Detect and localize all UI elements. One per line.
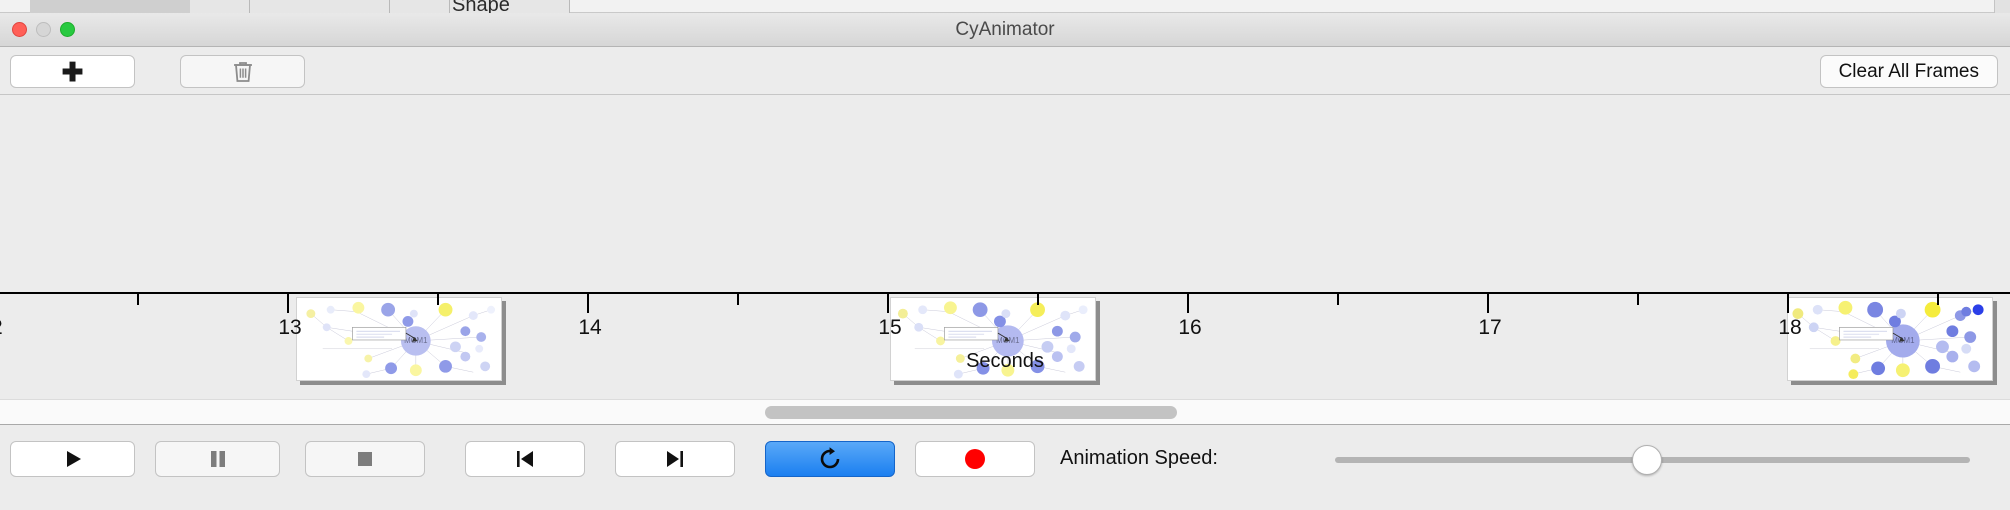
ruler-baseline — [0, 292, 2010, 294]
stop-button[interactable] — [305, 441, 425, 477]
ruler-tick-minor — [1637, 294, 1639, 305]
animation-speed-slider[interactable] — [1335, 457, 1970, 463]
ruler-tick-major — [887, 294, 889, 313]
skip-to-start-icon — [513, 448, 537, 470]
ruler-tick-major — [1187, 294, 1189, 313]
timeline-ruler[interactable]: 12 13 14 15 16 17 18 Seconds — [0, 292, 2010, 372]
slider-thumb[interactable] — [1632, 445, 1662, 475]
skip-to-end-button[interactable] — [615, 441, 735, 477]
skip-to-start-button[interactable] — [465, 441, 585, 477]
background-window-strip: Shape — [0, 0, 2010, 13]
stop-icon — [355, 449, 375, 469]
loop-button[interactable] — [765, 441, 895, 477]
ruler-tick-major — [287, 294, 289, 313]
ruler-tick-minor — [137, 294, 139, 305]
animation-speed-label: Animation Speed: — [1060, 447, 1218, 470]
ruler-tick-major — [1787, 294, 1789, 313]
ruler-tick-major — [1487, 294, 1489, 313]
ruler-tick-minor — [1937, 294, 1939, 305]
cyanimator-window: CyAnimator ✚ Clear All Frames — [0, 13, 2010, 510]
ruler-label: 15 — [878, 316, 901, 340]
record-button[interactable] — [915, 441, 1035, 477]
skip-to-end-icon — [663, 448, 687, 470]
timeline-panel[interactable]: MCM1 — [0, 95, 2010, 425]
pause-button[interactable] — [155, 441, 280, 477]
ruler-tick-minor — [737, 294, 739, 305]
ruler-tick-minor — [1337, 294, 1339, 305]
timeline-scrollbar[interactable] — [0, 399, 2010, 425]
ruler-tick-major — [587, 294, 589, 313]
add-frame-button[interactable]: ✚ — [10, 55, 135, 88]
play-button[interactable] — [10, 441, 135, 477]
loop-icon — [817, 446, 843, 472]
ruler-label: 18 — [1778, 316, 1801, 340]
window-titlebar: CyAnimator — [0, 13, 2010, 47]
delete-frame-button[interactable] — [180, 55, 305, 88]
window-title: CyAnimator — [0, 19, 2010, 41]
timeline-scrollbar-thumb[interactable] — [765, 406, 1177, 419]
background-chunk-3 — [390, 0, 450, 13]
timeline-axis-label: Seconds — [0, 350, 2010, 373]
ruler-tick-minor — [437, 294, 439, 305]
ruler-label: 16 — [1178, 316, 1201, 340]
background-tab-dark — [30, 0, 190, 13]
clear-all-frames-button[interactable]: Clear All Frames — [1820, 55, 1998, 88]
playback-controls: Animation Speed: — [0, 425, 2010, 509]
plus-icon: ✚ — [62, 59, 84, 85]
ruler-label: 14 — [578, 316, 601, 340]
background-chunk-1 — [190, 0, 250, 13]
record-icon — [963, 447, 987, 471]
play-icon — [61, 447, 85, 471]
ruler-label: 13 — [278, 316, 301, 340]
ruler-label: 17 — [1478, 316, 1501, 340]
toolbar: ✚ Clear All Frames — [0, 47, 2010, 95]
background-scrollbar — [1994, 0, 2010, 13]
pause-icon — [207, 448, 229, 470]
ruler-label: 12 — [0, 316, 3, 340]
trash-icon — [232, 60, 254, 84]
ruler-tick-minor — [1037, 294, 1039, 305]
background-chunk-2 — [250, 0, 390, 13]
